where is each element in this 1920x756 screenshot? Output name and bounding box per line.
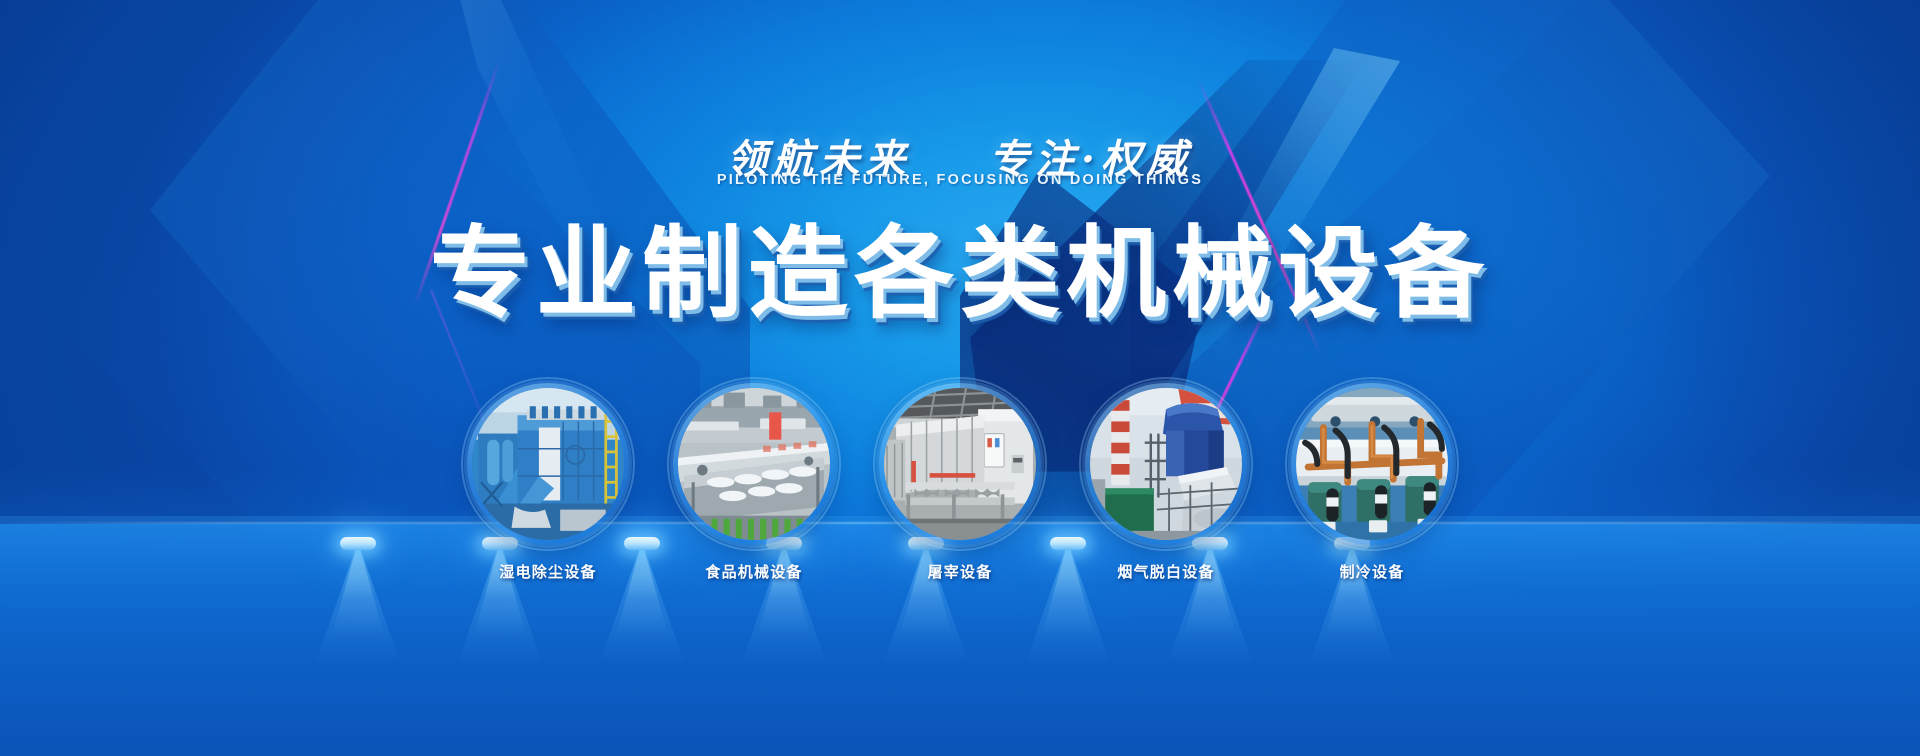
product-circle-ring[interactable] bbox=[879, 383, 1041, 545]
product-circle-ring[interactable] bbox=[673, 383, 835, 545]
product-item[interactable]: 烟气脱白设备 bbox=[1074, 383, 1258, 582]
product-label: 湿电除尘设备 bbox=[499, 561, 596, 582]
promotional-banner: 领航未来 专注·权威 PILOTING THE FUTURE, FOCUSING… bbox=[0, 0, 1920, 756]
product-item[interactable]: 制冷设备 bbox=[1280, 383, 1464, 582]
product-label: 食品机械设备 bbox=[705, 561, 802, 582]
page-title: 专业制造各类机械设备 bbox=[0, 192, 1920, 337]
product-item[interactable]: 湿电除尘设备 bbox=[456, 383, 640, 582]
product-label: 制冷设备 bbox=[1340, 561, 1405, 582]
product-item[interactable]: 食品机械设备 bbox=[662, 383, 846, 582]
product-circle-ring[interactable] bbox=[1291, 383, 1453, 545]
product-circle-ring[interactable] bbox=[467, 383, 629, 545]
wet-electrostatic-precipitator-photo bbox=[472, 388, 624, 540]
english-subtitle: PILOTING THE FUTURE, FOCUSING ON DOING T… bbox=[0, 172, 1920, 188]
refrigeration-equipment-photo bbox=[1296, 388, 1448, 540]
product-circle-list: 湿电除尘设备 bbox=[0, 383, 1920, 583]
slaughtering-equipment-photo bbox=[884, 388, 1036, 540]
product-circle-ring[interactable] bbox=[1085, 383, 1247, 545]
product-item[interactable]: 屠宰设备 bbox=[868, 383, 1052, 582]
food-machinery-photo bbox=[678, 388, 830, 540]
flue-gas-dewhitening-photo bbox=[1090, 388, 1242, 540]
product-label: 屠宰设备 bbox=[928, 561, 993, 582]
product-label: 烟气脱白设备 bbox=[1117, 561, 1214, 582]
